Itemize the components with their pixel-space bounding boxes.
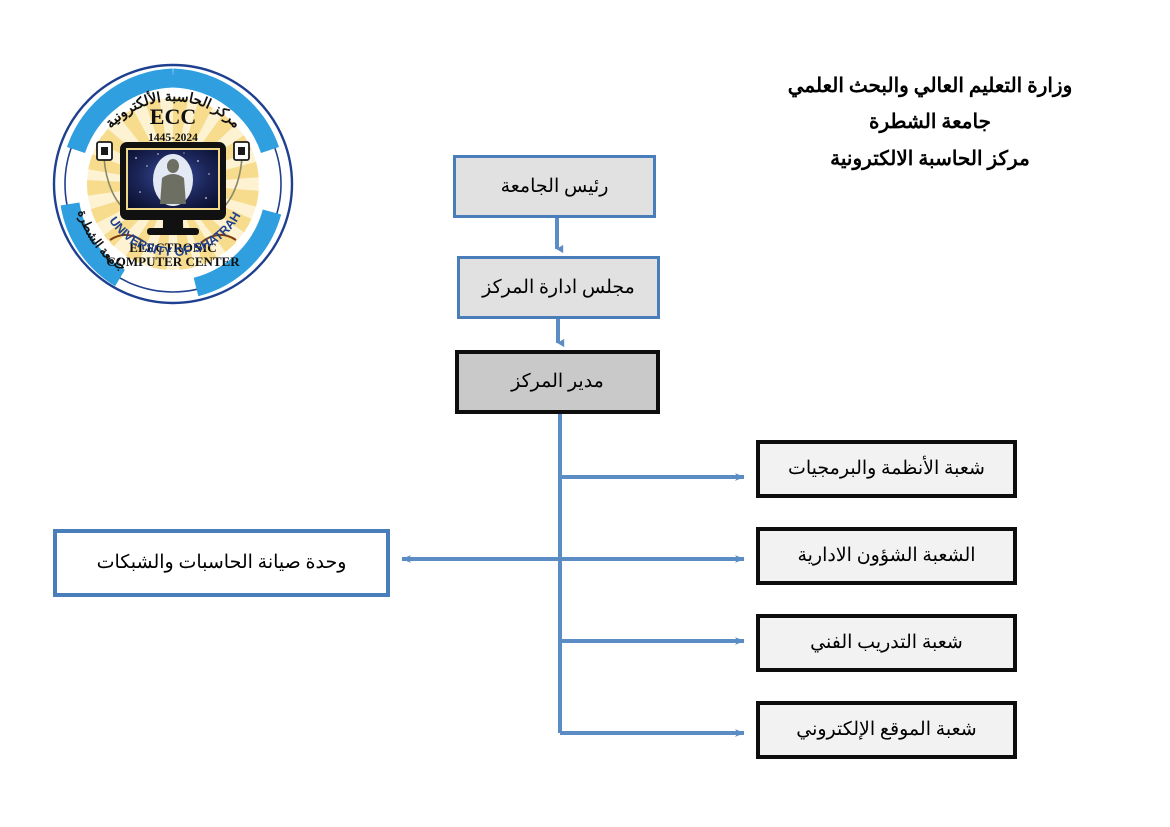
node-dept-website-label: شعبة الموقع الإلكتروني [760, 718, 1013, 742]
node-center-director[interactable]: مدير المركز [455, 350, 660, 414]
org-chart-page: ECC 1445-2024 [0, 0, 1170, 827]
node-unit-maintenance-networks-label: وحدة صيانة الحاسبات والشبكات [57, 551, 386, 575]
node-unit-maintenance-networks[interactable]: وحدة صيانة الحاسبات والشبكات [53, 529, 390, 597]
node-dept-systems-software-label: شعبة الأنظمة والبرمجيات [760, 457, 1013, 481]
node-dept-administrative-affairs[interactable]: الشعبة الشؤون الادارية [756, 527, 1017, 585]
node-dept-website[interactable]: شعبة الموقع الإلكتروني [756, 701, 1017, 759]
node-president-label: رئيس الجامعة [456, 175, 653, 199]
ecc-logo: ECC 1445-2024 [48, 62, 298, 307]
node-board-of-directors-label: مجلس ادارة المركز [460, 276, 657, 300]
node-board-of-directors[interactable]: مجلس ادارة المركز [457, 256, 660, 319]
institution-header: وزارة التعليم العالي والبحث العلمي جامعة… [740, 68, 1120, 177]
header-line-university: جامعة الشطرة [740, 104, 1120, 140]
logo-acronym: ECC [150, 104, 196, 129]
header-line-ministry: وزارة التعليم العالي والبحث العلمي [740, 68, 1120, 104]
ecc-logo-graphic: ECC 1445-2024 [48, 62, 298, 307]
node-president[interactable]: رئيس الجامعة [453, 155, 656, 218]
node-center-director-label: مدير المركز [459, 370, 656, 394]
node-dept-technical-training-label: شعبة التدريب الفني [760, 631, 1013, 655]
header-line-center: مركز الحاسبة الالكترونية [740, 141, 1120, 177]
node-dept-technical-training[interactable]: شعبة التدريب الفني [756, 614, 1017, 672]
node-dept-administrative-affairs-label: الشعبة الشؤون الادارية [760, 544, 1013, 568]
node-dept-systems-software[interactable]: شعبة الأنظمة والبرمجيات [756, 440, 1017, 498]
